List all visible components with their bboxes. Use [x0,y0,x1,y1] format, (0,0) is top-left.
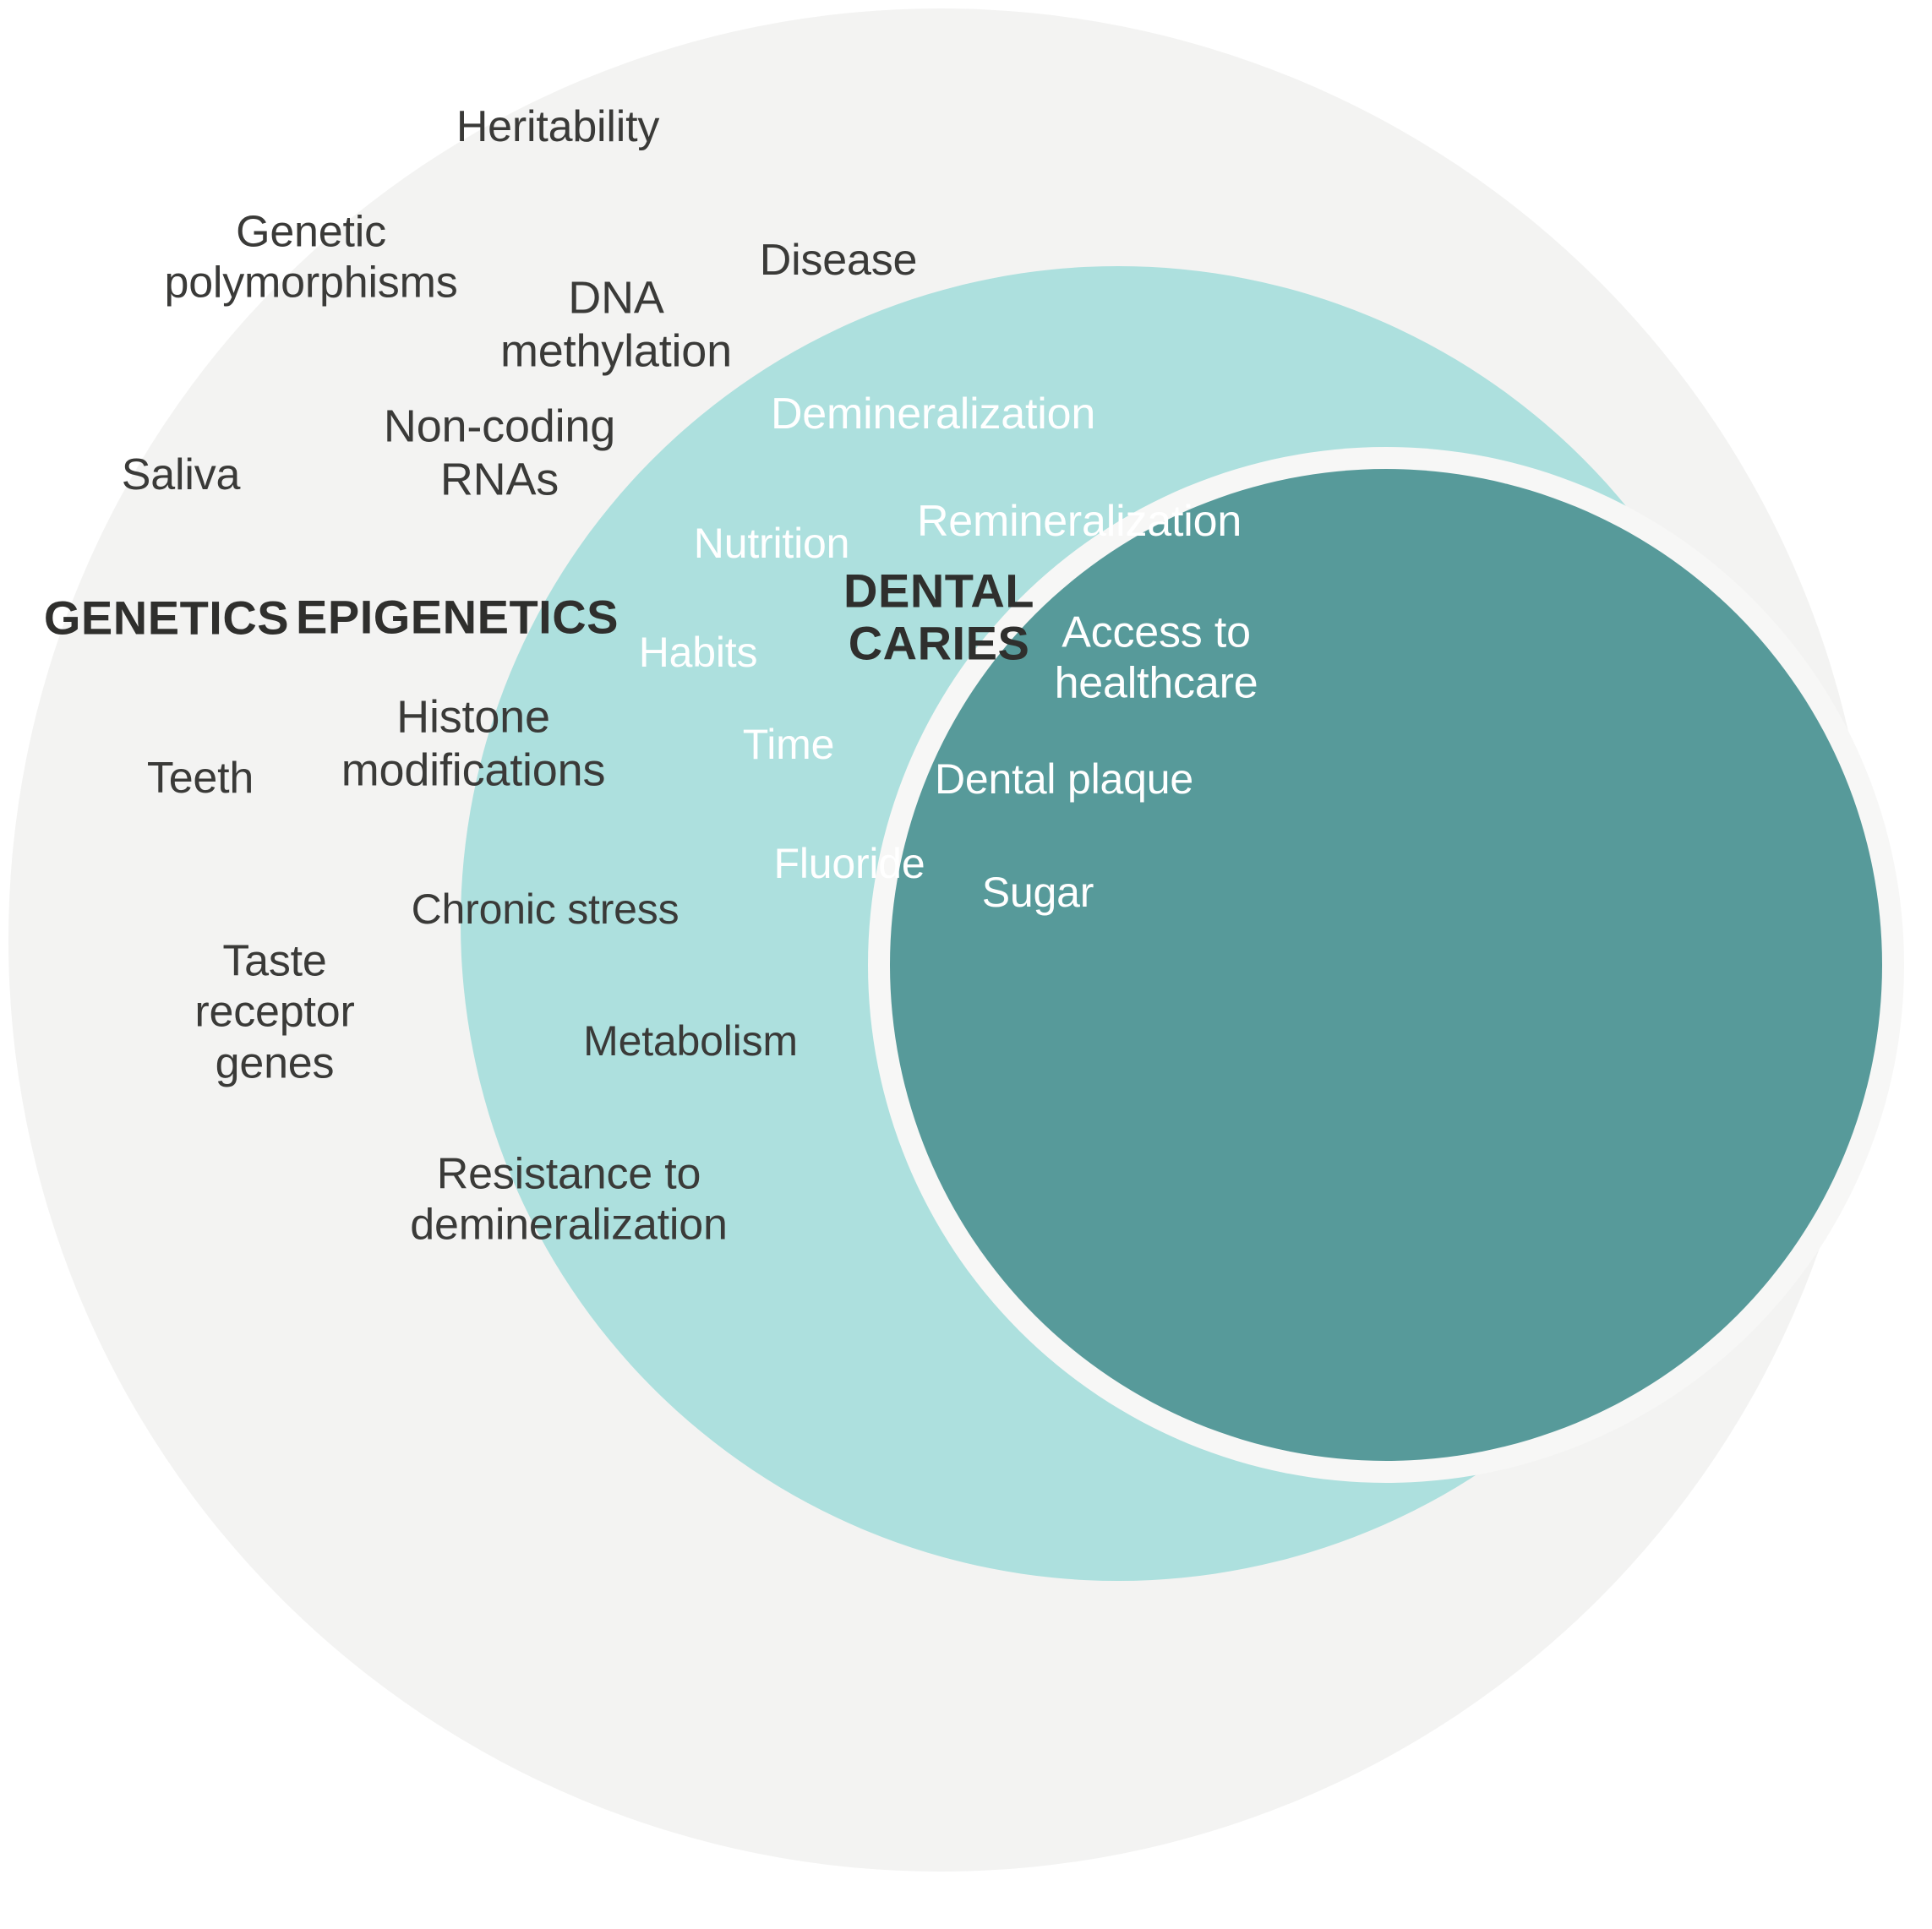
genetics-label-taste-receptor-genes: Taste receptor genes [194,936,354,1089]
caries-label-fluoride: Fluoride [773,839,925,888]
genetics-label-heritability: Heritability [456,101,659,152]
caries-label-sugar: Sugar [982,868,1094,917]
caries-label-remineralization: Remineralization [917,496,1242,547]
epigenetics-label-chronic-stress: Chronic stress [412,885,679,934]
caries-label-time: Time [743,720,834,769]
diagram-canvas: GENETICS Heritability Genetic polymorphi… [0,0,1932,1929]
epigenetics-label-metabolism: Metabolism [583,1016,798,1065]
genetics-ring-title: GENETICS [44,591,289,646]
epigenetics-label-disease: Disease [760,235,917,286]
caries-label-habits: Habits [639,628,758,677]
epigenetics-label-histone-modifications: Histone modifications [341,690,606,796]
caries-label-demineralization: Demineralization [771,389,1095,439]
caries-label-nutrition: Nutrition [694,519,849,568]
caries-label-access-to-healthcare: Access to healthcare [1055,608,1258,710]
dental-caries-title: DENTAL CARIES [843,564,1034,668]
caries-label-dental-plaque: Dental plaque [935,755,1193,804]
epigenetics-label-non-coding-rnas: Non-coding RNAs [384,400,615,505]
genetics-label-teeth: Teeth [147,753,254,804]
dental-caries-circle [890,469,1882,1461]
genetics-label-resistance-to-demineralization: Resistance to demineralization [410,1149,727,1251]
epigenetics-label-dna-methylation: DNA methylation [500,271,732,377]
genetics-label-saliva: Saliva [122,450,240,500]
epigenetics-ring-title: EPIGENETICS [296,591,619,646]
genetics-label-genetic-polymorphisms: Genetic polymorphisms [164,207,457,309]
